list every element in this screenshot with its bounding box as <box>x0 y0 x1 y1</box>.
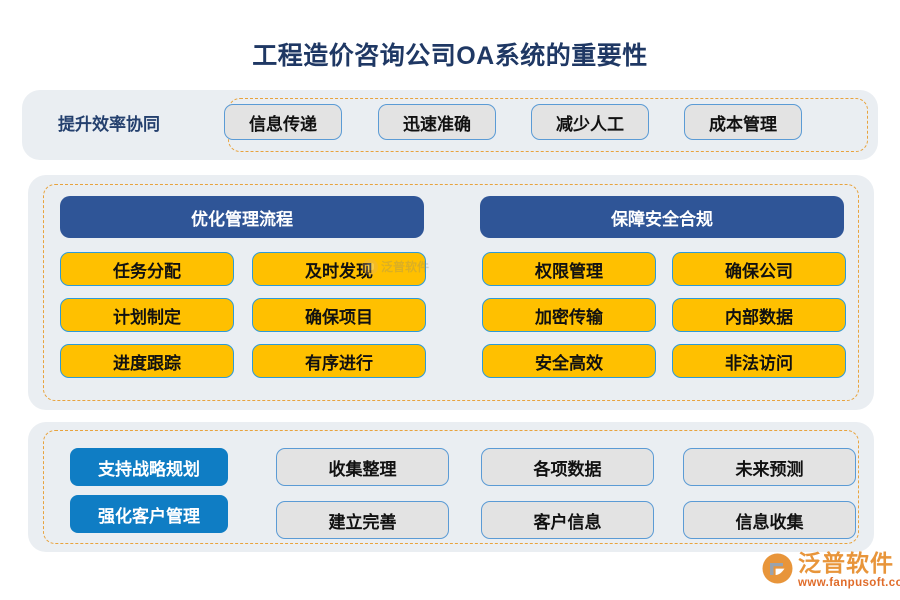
brand-url: www.fanpusoft.com <box>798 578 900 590</box>
strategy-item-r2c2[interactable]: 客户信息 <box>481 501 654 539</box>
infographic-canvas: 工程造价咨询公司OA系统的重要性 提升效率协同 信息传递 迅速准确 减少人工 成… <box>0 0 900 600</box>
core-item-security-l3[interactable]: 安全高效 <box>482 344 656 378</box>
strategy-item-r1c2[interactable]: 各项数据 <box>481 448 654 486</box>
core-header-process: 优化管理流程 <box>60 196 424 238</box>
core-item-security-r2[interactable]: 内部数据 <box>672 298 846 332</box>
core-item-security-r1[interactable]: 确保公司 <box>672 252 846 286</box>
strategy-primary-1[interactable]: 支持战略规划 <box>70 448 228 486</box>
core-item-security-l2[interactable]: 加密传输 <box>482 298 656 332</box>
core-item-process-r3[interactable]: 有序进行 <box>252 344 426 378</box>
core-item-process-l3[interactable]: 进度跟踪 <box>60 344 234 378</box>
efficiency-row-label: 提升效率协同 <box>58 110 160 135</box>
efficiency-chip-4[interactable]: 成本管理 <box>684 104 802 140</box>
efficiency-chip-2[interactable]: 迅速准确 <box>378 104 496 140</box>
fanpu-logo-icon <box>762 553 793 584</box>
strategy-item-r1c3[interactable]: 未来预测 <box>683 448 856 486</box>
core-item-process-r2[interactable]: 确保项目 <box>252 298 426 332</box>
core-item-process-l1[interactable]: 任务分配 <box>60 252 234 286</box>
brand-text-block: 泛普软件 www.fanpusoft.com <box>798 552 900 590</box>
strategy-primary-2[interactable]: 强化客户管理 <box>70 495 228 533</box>
brand-name: 泛普软件 <box>798 552 894 575</box>
efficiency-chip-3[interactable]: 减少人工 <box>531 104 649 140</box>
strategy-item-r2c1[interactable]: 建立完善 <box>276 501 449 539</box>
core-header-security: 保障安全合规 <box>480 196 844 238</box>
brand-logo: 泛普软件 www.fanpusoft.com <box>762 552 900 590</box>
strategy-item-r1c1[interactable]: 收集整理 <box>276 448 449 486</box>
efficiency-chip-1[interactable]: 信息传递 <box>224 104 342 140</box>
strategy-item-r2c3[interactable]: 信息收集 <box>683 501 856 539</box>
core-item-process-r1[interactable]: 及时发现 <box>252 252 426 286</box>
core-item-security-l1[interactable]: 权限管理 <box>482 252 656 286</box>
core-item-process-l2[interactable]: 计划制定 <box>60 298 234 332</box>
page-title: 工程造价咨询公司OA系统的重要性 <box>0 36 900 72</box>
core-item-security-r3[interactable]: 非法访问 <box>672 344 846 378</box>
